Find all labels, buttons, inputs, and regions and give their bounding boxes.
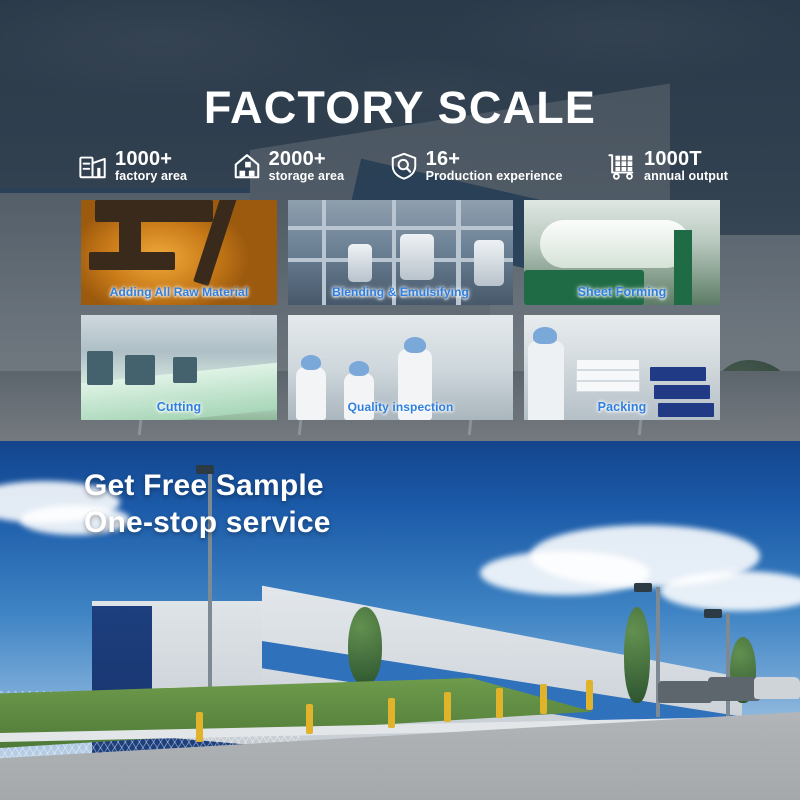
stat-value: 1000T — [644, 149, 728, 170]
cloud-5 — [660, 571, 800, 611]
stat-label: Production experience — [426, 170, 563, 183]
bollard-7 — [586, 680, 593, 710]
bollard-3 — [388, 698, 395, 728]
stat-value: 1000+ — [115, 149, 187, 170]
cloud-4 — [480, 551, 650, 595]
cell-label: Cutting — [81, 400, 277, 414]
bollard-6 — [540, 684, 547, 714]
tree-mid — [348, 607, 382, 685]
bollard-2 — [306, 704, 313, 734]
headline-line-1: Get Free Sample — [84, 469, 324, 502]
stat-label: storage area — [269, 170, 345, 183]
factory-scale-banner: FACTORY SCALE 1000+ factory area — [0, 0, 800, 800]
process-cell-blending[interactable]: Blending & Emulsifying — [288, 200, 513, 305]
stats-row: 1000+ factory area 2000+ storage area — [78, 144, 728, 188]
cell-label: Blending & Emulsifying — [288, 285, 513, 299]
process-cell-sheet-forming[interactable]: Sheet Forming — [524, 200, 720, 305]
bollard-4 — [444, 692, 451, 722]
tree-tall — [624, 607, 650, 703]
parked-car-3 — [754, 677, 800, 699]
process-cell-cutting[interactable]: Cutting — [81, 315, 277, 420]
stat-label: annual output — [644, 170, 728, 183]
process-photo-grid: Adding All Raw Material Blending & Emuls… — [81, 200, 720, 420]
parked-car-2 — [708, 677, 760, 701]
stat-label: factory area — [115, 170, 187, 183]
cell-label: Adding All Raw Material — [81, 285, 277, 299]
stat-annual-output: 1000T annual output — [607, 149, 728, 183]
cell-label: Sheet Forming — [524, 285, 720, 299]
page-title: FACTORY SCALE — [0, 82, 800, 134]
light-lamp-2 — [634, 583, 652, 592]
bollard-5 — [496, 688, 503, 718]
process-cell-raw-material[interactable]: Adding All Raw Material — [81, 200, 277, 305]
stat-storage-area: 2000+ storage area — [232, 149, 345, 183]
parked-car-1 — [658, 681, 712, 703]
light-lamp-3 — [704, 609, 722, 618]
cell-label: Quality inspection — [288, 400, 513, 414]
process-cell-quality-inspection[interactable]: Quality inspection — [288, 315, 513, 420]
headline-line-2: One-stop service — [84, 505, 331, 542]
hero-section: FACTORY SCALE 1000+ factory area — [0, 0, 800, 441]
bollard-1 — [196, 712, 203, 742]
stat-factory-area: 1000+ factory area — [78, 149, 187, 183]
factory-building-icon — [78, 150, 108, 182]
stat-value: 16+ — [426, 149, 563, 170]
bottom-headline: Get Free Sample One-stop service — [84, 468, 331, 541]
process-cell-packing[interactable]: Packing — [524, 315, 720, 420]
stat-production-experience: 16+ Production experience — [389, 149, 563, 183]
shield-search-icon — [389, 150, 419, 182]
pallet-cart-icon — [607, 150, 637, 182]
warehouse-home-icon — [232, 150, 262, 182]
cell-label: Packing — [524, 400, 720, 414]
stat-value: 2000+ — [269, 149, 345, 170]
